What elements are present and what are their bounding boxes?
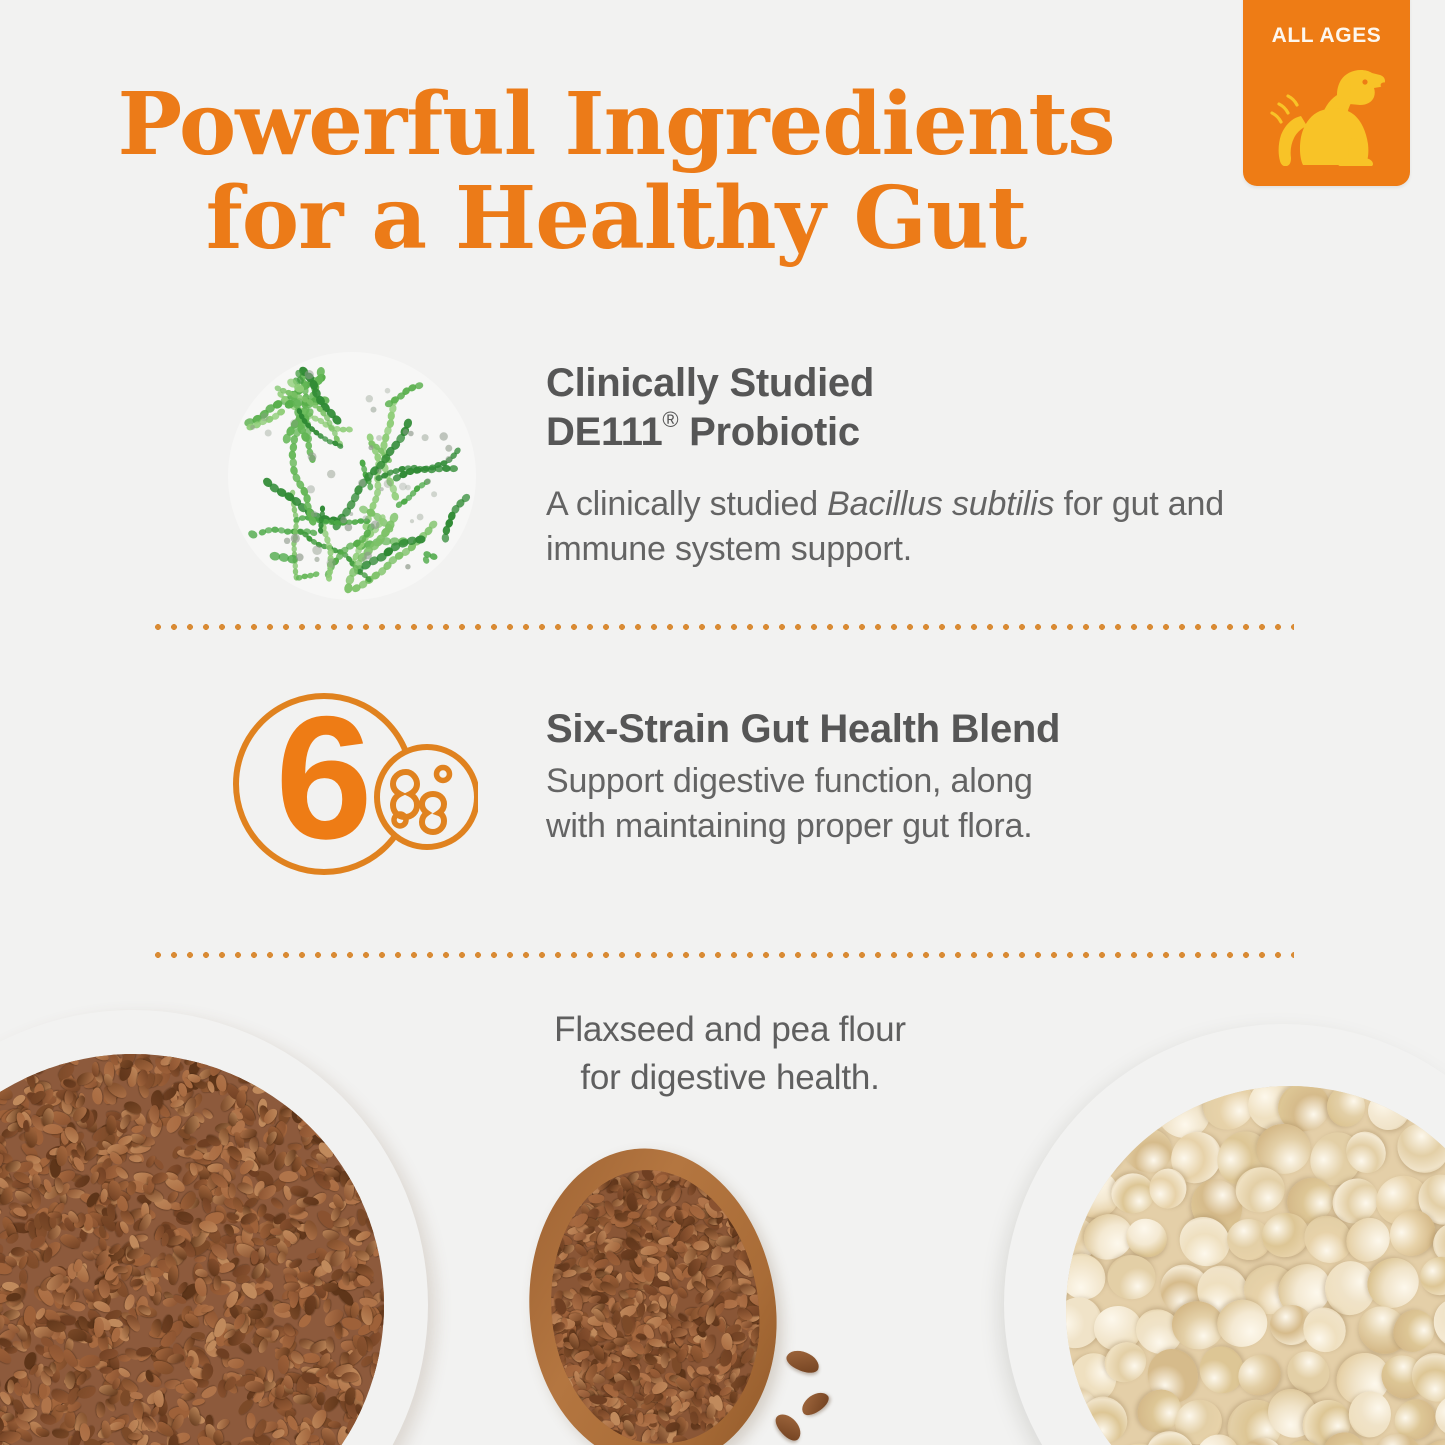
- flaxseed: [25, 1071, 36, 1088]
- flaxseed: [736, 1398, 748, 1410]
- flaxseed: [39, 1384, 47, 1399]
- infographic-page: ALL AGES: [0, 0, 1445, 1445]
- flaxseed: [201, 1363, 216, 1383]
- flaxseed: [328, 1420, 341, 1428]
- feature-icon-wrapper: [228, 352, 476, 600]
- flaxseed: [93, 1317, 103, 1337]
- feature-six-strain-blend: 6 Six-Strain Gut Health Blend Support di…: [228, 688, 1238, 878]
- probiotic-text: Probiotic: [678, 410, 859, 454]
- chickpea: [1149, 1168, 1188, 1209]
- flaxseed: [23, 1119, 30, 1131]
- feature-text-block: Six-Strain Gut Health Blend Support dige…: [478, 688, 1238, 849]
- flaxseed: [11, 1247, 25, 1256]
- spoon-bowl: [511, 1134, 794, 1445]
- flaxseed: [302, 1353, 321, 1363]
- flaxseed: [94, 1054, 109, 1061]
- flaxseed: [741, 1321, 752, 1328]
- flaxseed: [191, 1398, 205, 1407]
- flaxseed: [120, 1389, 131, 1406]
- feature-body: A clinically studied Bacillus subtilis f…: [546, 482, 1238, 572]
- flaxseed: [380, 1288, 384, 1301]
- flaxseed: [0, 1431, 21, 1442]
- flaxseed: [91, 1088, 103, 1106]
- feature-body-line-1: Support digestive function, along: [546, 759, 1238, 804]
- chickpeas-fill: [1066, 1086, 1445, 1445]
- flaxseed: [357, 1116, 367, 1136]
- flaxseed: [361, 1153, 375, 1162]
- bacillus-microscopy-icon: [228, 352, 476, 600]
- flaxseed: [0, 1085, 14, 1100]
- flaxseed: [227, 1359, 243, 1369]
- flaxseed: [0, 1205, 2, 1217]
- flaxseed: [32, 1174, 41, 1188]
- flaxseed: [660, 1352, 670, 1369]
- chickpea: [1110, 1172, 1155, 1215]
- flaxseed: [334, 1322, 342, 1339]
- flaxseed: [358, 1423, 374, 1439]
- flaxseed: [277, 1354, 289, 1374]
- flaxseed: [42, 1123, 63, 1135]
- six-strain-circle-icon: 6: [228, 688, 478, 878]
- feature-body-pre: A clinically studied: [546, 485, 827, 523]
- flaxseed: [269, 1196, 284, 1211]
- flaxseed: [723, 1166, 735, 1185]
- chickpea: [1414, 1251, 1445, 1301]
- species-name: Bacillus subtilis: [827, 485, 1054, 523]
- page-title-line-1: Powerful Ingredients: [117, 74, 1114, 175]
- flaxseed: [150, 1104, 160, 1122]
- flaxseed: [293, 1394, 311, 1404]
- flaxseed: [348, 1159, 356, 1173]
- flaxseed: [128, 1433, 141, 1440]
- flaxseed: [228, 1112, 237, 1126]
- chickpea: [1366, 1090, 1410, 1131]
- flaxseed: [246, 1413, 256, 1429]
- chickpea: [1107, 1254, 1157, 1301]
- chickpea: [1348, 1390, 1392, 1437]
- flaxseed: [194, 1255, 207, 1263]
- flaxseed: [274, 1438, 291, 1445]
- flaxseed: [316, 1392, 324, 1405]
- flaxseed: [19, 1270, 27, 1284]
- all-ages-badge-label: ALL AGES: [1243, 24, 1410, 48]
- feature-clinically-studied-probiotic: Clinically Studied DE111® Probiotic A cl…: [228, 352, 1238, 600]
- flaxseed: [229, 1184, 236, 1199]
- flaxseed: [628, 1212, 640, 1219]
- feature-title: Six-Strain Gut Health Blend: [546, 706, 1238, 753]
- flaxseed: [167, 1265, 179, 1286]
- flaxseed: [605, 1439, 617, 1445]
- wooden-bowl-of-flaxseed: [0, 1010, 428, 1445]
- sitting-dog-icon: [1261, 54, 1393, 166]
- chickpea: [1100, 1086, 1159, 1134]
- flaxseed: [369, 1165, 384, 1180]
- flaxseed: [117, 1366, 132, 1379]
- flaxseed: [79, 1422, 91, 1441]
- flaxseed: [267, 1369, 273, 1382]
- feature-title: Clinically Studied DE111® Probiotic: [546, 360, 1238, 456]
- flaxseed: [269, 1227, 282, 1235]
- registered-trademark-icon: ®: [662, 407, 678, 432]
- flaxseed: [669, 1293, 678, 1307]
- feature-body-line-2: with maintaining proper gut flora.: [546, 804, 1238, 849]
- flaxseed: [263, 1288, 275, 1302]
- flaxseed: [661, 1332, 667, 1344]
- feature-body: Support digestive function, along with m…: [546, 759, 1238, 849]
- dotted-divider: [150, 952, 1294, 958]
- flaxseed-fill: [0, 1054, 384, 1445]
- flaxseed: [637, 1413, 643, 1425]
- spoon-flaxseed-fill: [535, 1158, 773, 1445]
- all-ages-badge: ALL AGES: [1243, 0, 1410, 186]
- feature-title-line-2: DE111® Probiotic: [546, 407, 1238, 456]
- flaxseed: [612, 1310, 622, 1326]
- dotted-divider: [150, 624, 1294, 630]
- flaxseed: [34, 1427, 50, 1439]
- feature-icon-wrapper: 6: [228, 688, 478, 878]
- flaxseed: [369, 1386, 384, 1401]
- flaxseed: [247, 1309, 263, 1319]
- de111-text: DE111: [546, 410, 662, 454]
- ingredient-photos: [0, 1000, 1445, 1445]
- flaxseed: [798, 1388, 832, 1419]
- flaxseed: [152, 1158, 165, 1171]
- wooden-spoon-of-flaxseed: [511, 1134, 795, 1445]
- white-bowl-of-chickpeas: [1004, 1024, 1445, 1445]
- page-title: Powerful Ingredients for a Healthy Gut: [0, 78, 1232, 265]
- flaxseed: [784, 1346, 823, 1376]
- flaxseed: [371, 1127, 383, 1139]
- feature-title-line-1: Clinically Studied: [546, 360, 1238, 407]
- flaxseed: [671, 1434, 689, 1445]
- chickpea: [1327, 1086, 1365, 1127]
- flaxseed: [620, 1249, 637, 1260]
- feature-text-block: Clinically Studied DE111® Probiotic A cl…: [476, 352, 1238, 572]
- flaxseed: [191, 1332, 204, 1339]
- chickpea: [1346, 1086, 1400, 1087]
- six-numeral: 6: [275, 688, 372, 876]
- flaxseed: [56, 1146, 68, 1167]
- flaxseed: [369, 1407, 384, 1428]
- page-title-line-2: for a Healthy Gut: [0, 172, 1232, 266]
